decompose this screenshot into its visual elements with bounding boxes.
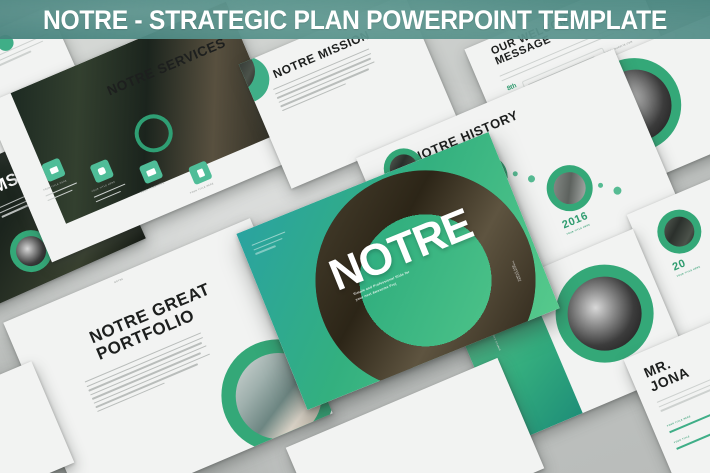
- history-connector-dot: [612, 185, 622, 195]
- header-banner: NOTRE - STRATEGIC PLAN POWERPOINT TEMPLA…: [0, 0, 710, 39]
- history-connector-dot: [527, 174, 536, 183]
- slide-mockup-scene: MS NOTRE SERVICES YOUR TITLE HERE: [0, 0, 710, 473]
- profile-title: MR. JONA: [642, 351, 691, 394]
- profile-skill-1-bar: [676, 426, 710, 449]
- portfolio-watermark: NOTRE: [114, 278, 124, 284]
- preview-image: MS NOTRE SERVICES YOUR TITLE HERE: [0, 0, 710, 473]
- page-title: NOTRE - STRATEGIC PLAN POWERPOINT TEMPLA…: [25, 6, 685, 33]
- history-connector-dot: [597, 182, 604, 189]
- services-item-3-label: YOUR TITLE HERE: [190, 183, 214, 195]
- history-connector-dot: [512, 170, 519, 177]
- history-node-2-year: 2016: [561, 211, 590, 232]
